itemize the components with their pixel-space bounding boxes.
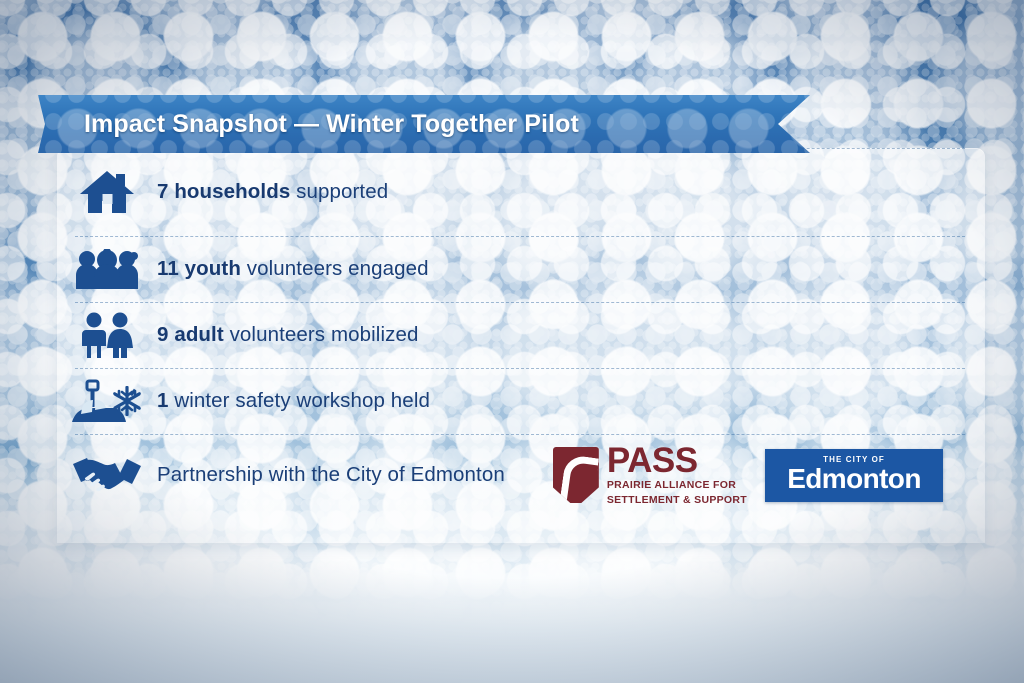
stat-row-partnership: Partnership with the City of Edmonton PA… xyxy=(57,434,985,516)
stat-label-workshop: 1 winter safety workshop held xyxy=(157,390,430,413)
stat-row-adults: 9 adult volunteers mobilized xyxy=(57,302,985,368)
row-divider xyxy=(75,434,965,435)
pass-logo: PASS PRAIRIE ALLIANCE FOR SETTLEMENT & S… xyxy=(553,444,747,506)
stat-bold-adults: adult xyxy=(174,323,223,346)
stat-value-workshop: 1 xyxy=(157,389,169,412)
pass-logo-tagline-line2: SETTLEMENT & SUPPORT xyxy=(607,494,747,506)
adult-pair-icon xyxy=(57,312,157,358)
stat-value-adults: 9 xyxy=(157,323,169,346)
stat-label-households: 7 households supported xyxy=(157,181,388,204)
partnership-label: Partnership with the City of Edmonton xyxy=(157,464,505,487)
stat-rest-workshop: winter safety workshop held xyxy=(174,389,430,412)
stat-value-youth: 11 xyxy=(157,257,179,280)
stat-value-households: 7 xyxy=(157,180,169,203)
stat-row-households: 7 households supported xyxy=(57,148,985,236)
house-icon xyxy=(57,168,157,216)
edmonton-logo-wordmark: Edmonton xyxy=(787,465,921,493)
page-title: Impact Snapshot — Winter Together Pilot xyxy=(84,95,579,153)
row-divider xyxy=(75,302,965,303)
youth-group-icon xyxy=(57,249,157,289)
snow-drift-foreground xyxy=(0,563,1024,683)
row-divider xyxy=(75,368,965,369)
stat-rest-youth: volunteers engaged xyxy=(247,257,429,280)
infographic-slide: Impact Snapshot — Winter Together Pilot … xyxy=(0,0,1024,683)
stat-row-youth: 11 youth volunteers engaged xyxy=(57,236,985,302)
stat-bold-households: households xyxy=(174,180,290,203)
pass-logo-tagline-line1: PRAIRIE ALLIANCE FOR xyxy=(607,479,747,491)
title-banner: Impact Snapshot — Winter Together Pilot xyxy=(38,95,810,153)
stat-label-youth: 11 youth volunteers engaged xyxy=(157,258,429,281)
edmonton-logo: THE CITY OF Edmonton xyxy=(765,449,943,502)
pass-logo-mark xyxy=(553,447,599,503)
stat-bold-youth: youth xyxy=(185,257,241,280)
pass-logo-wordmark: PASS xyxy=(607,444,747,477)
row-divider xyxy=(75,236,965,237)
stat-rest-adults: volunteers mobilized xyxy=(230,323,419,346)
stat-label-adults: 9 adult volunteers mobilized xyxy=(157,324,418,347)
stat-rest-households: supported xyxy=(296,180,388,203)
stats-list: 7 households supported xyxy=(57,148,985,543)
stat-row-workshop: 1 winter safety workshop held xyxy=(57,368,985,434)
handshake-icon xyxy=(57,454,157,496)
snow-shovel-icon xyxy=(57,378,157,424)
partner-logos: PASS PRAIRIE ALLIANCE FOR SETTLEMENT & S… xyxy=(553,444,943,506)
